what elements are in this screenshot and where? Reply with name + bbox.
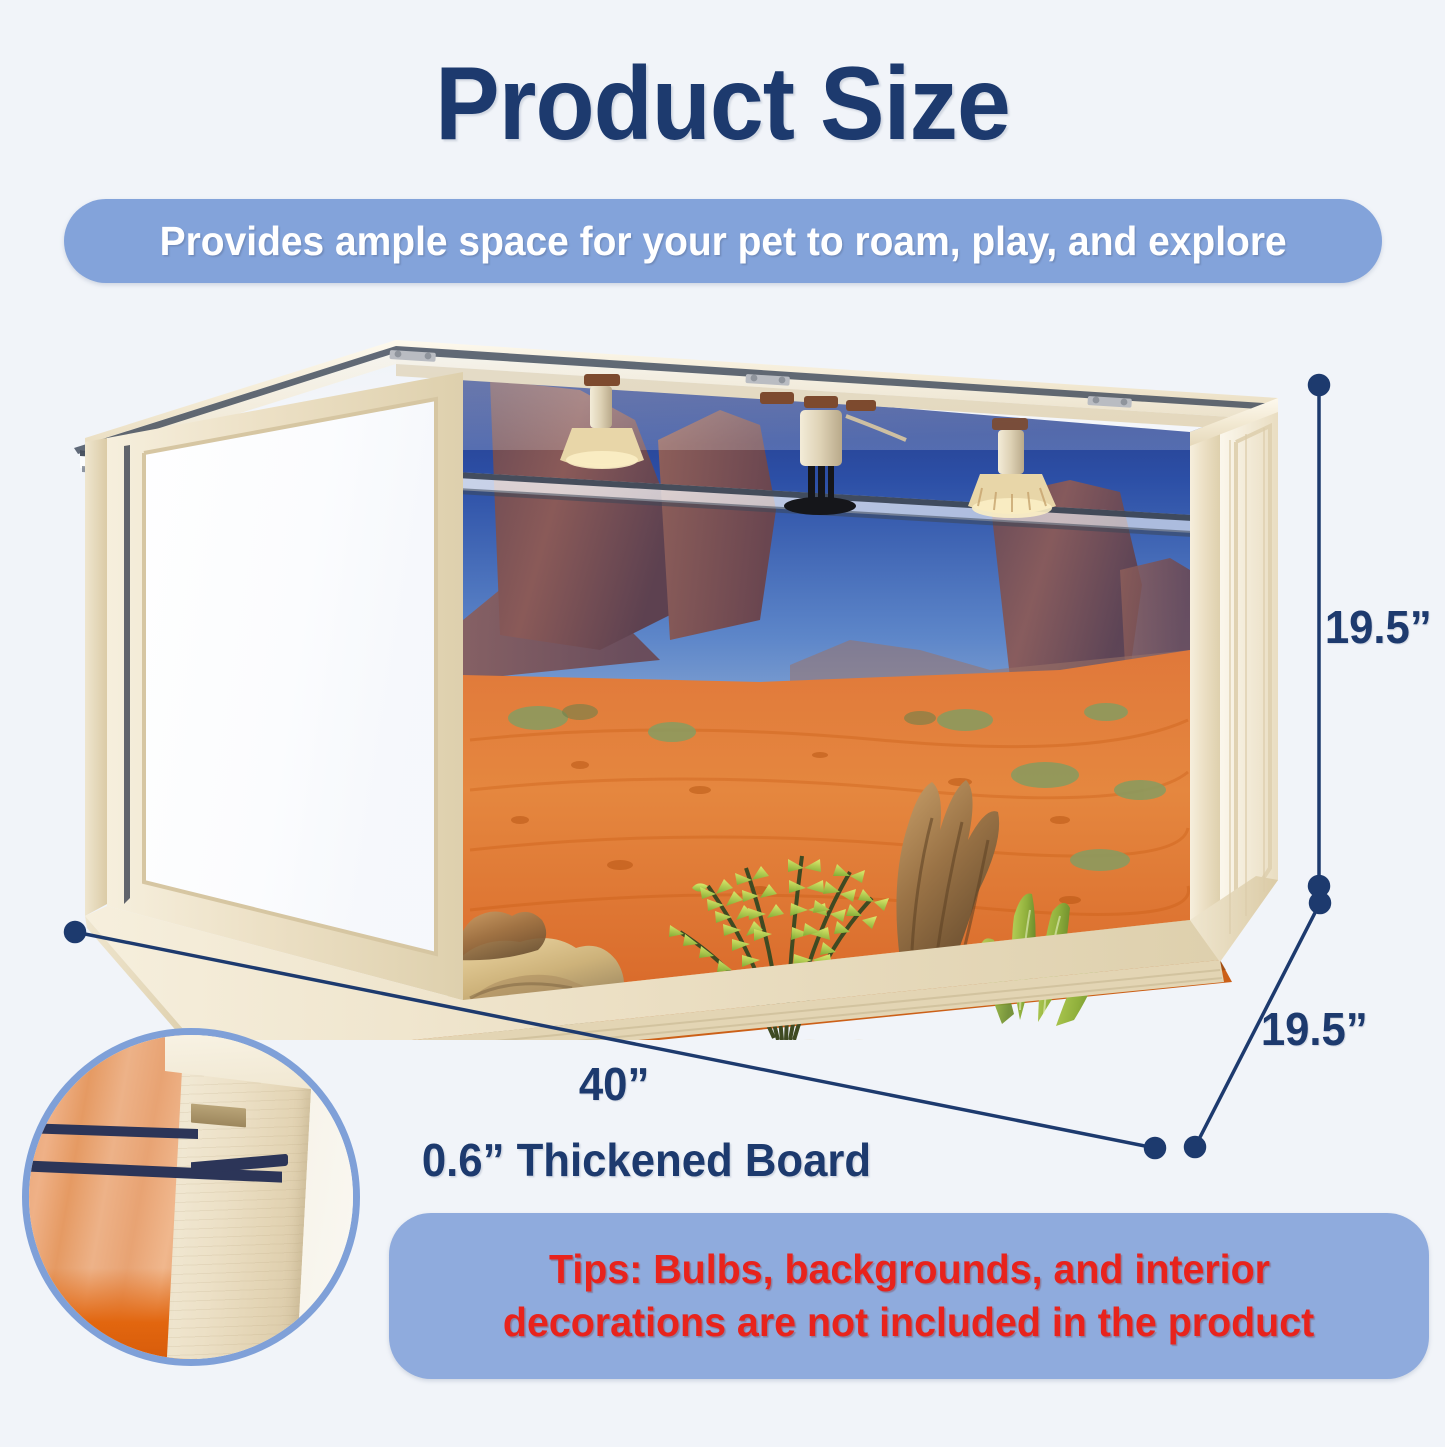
frame-right-front-post xyxy=(1190,424,1220,962)
tips-line-2: decorations are not included in the prod… xyxy=(503,1299,1314,1346)
left-glass-sheen xyxy=(144,399,436,954)
product-size-infographic: Product Size Provides ample space for yo… xyxy=(0,0,1445,1447)
page-title: Product Size xyxy=(51,52,1395,156)
dimension-label-height: 19.5” xyxy=(1325,600,1432,654)
frame-left-post-outer xyxy=(85,438,107,916)
left-glass-seam xyxy=(124,445,130,904)
tips-banner: Tips: Bulbs, backgrounds, and interior d… xyxy=(389,1213,1429,1379)
product-enclosure-image xyxy=(60,320,1310,1040)
enclosure-svg xyxy=(60,320,1310,1040)
board-thickness-label: 0.6” Thickened Board xyxy=(422,1133,871,1187)
dimension-label-depth: 19.5” xyxy=(1261,1002,1368,1056)
tips-line-1: Tips: Bulbs, backgrounds, and interior xyxy=(549,1246,1270,1293)
closeup-photo xyxy=(29,1035,353,1359)
subtitle-banner: Provides ample space for your pet to roa… xyxy=(64,199,1382,283)
board-thickness-closeup-circle xyxy=(22,1028,360,1366)
dimension-label-width: 40” xyxy=(579,1057,649,1111)
subtitle-text: Provides ample space for your pet to roa… xyxy=(159,218,1286,265)
